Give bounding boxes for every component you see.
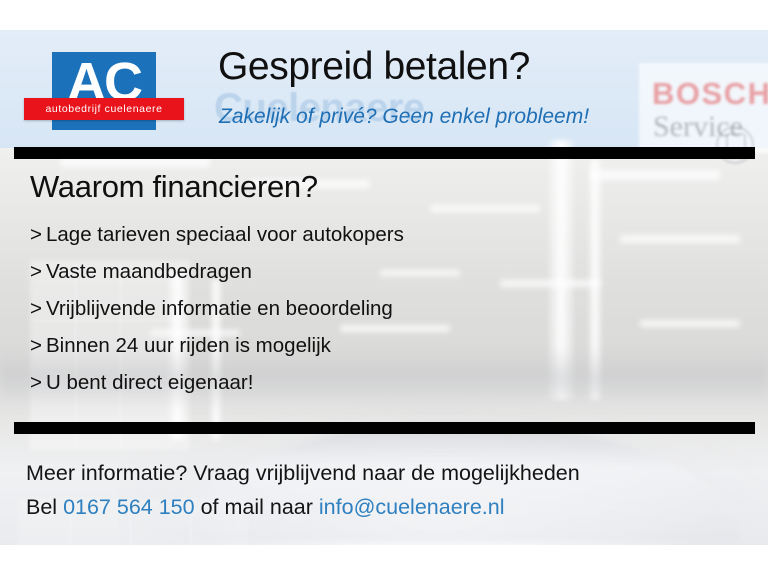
email-address-link[interactable]: info@cuelenaere.nl <box>319 495 505 519</box>
footer-contact-line: Bel 0167 564 150 of mail naar info@cuele… <box>26 492 746 526</box>
ceiling-light-panel <box>590 170 720 180</box>
divider-bar-bottom <box>14 422 755 434</box>
bullet-marker-icon: > <box>30 333 46 359</box>
list-item: >Vrijblijvende informatie en beoordeling <box>30 296 730 333</box>
banner-subtitle: Zakelijk of privé? Geen enkel probleem! <box>219 105 589 129</box>
list-item: >U bent direct eigenaar! <box>30 370 730 407</box>
list-item-label: Binnen 24 uur rijden is mogelijk <box>46 334 331 357</box>
list-item-label: Lage tarieven speciaal voor autokopers <box>46 223 404 246</box>
phone-number-link[interactable]: 0167 564 150 <box>63 495 195 519</box>
footer-call-label: Bel <box>26 495 57 519</box>
list-item: >Vaste maandbedragen <box>30 259 730 296</box>
ceiling-light-panel <box>430 205 540 212</box>
list-item-label: Vrijblijvende informatie en beoordeling <box>46 297 393 320</box>
list-item-label: U bent direct eigenaar! <box>46 371 253 394</box>
divider-bar-top <box>14 147 755 159</box>
bosch-wordmark: BOSCH <box>652 76 768 112</box>
finance-promo-banner: BOSCH Service Cuelenaere AC autobedrijf … <box>0 0 768 576</box>
contact-footer: Meer informatie? Vraag vrijblijvend naar… <box>26 458 746 526</box>
list-item: >Binnen 24 uur rijden is mogelijk <box>30 333 730 370</box>
logo-tagline: autobedrijf cuelenaere <box>24 98 184 120</box>
bullet-marker-icon: > <box>30 259 46 285</box>
bullet-marker-icon: > <box>30 370 46 396</box>
ceiling-light-panel <box>60 158 210 167</box>
banner-title: Gespreid betalen? <box>218 45 530 89</box>
list-item: >Lage tarieven speciaal voor autokopers <box>30 222 730 259</box>
section-title: Waarom financieren? <box>30 169 318 205</box>
bullet-marker-icon: > <box>30 296 46 322</box>
footer-mail-label: of mail naar <box>201 495 313 519</box>
bullet-marker-icon: > <box>30 222 46 248</box>
list-item-label: Vaste maandbedragen <box>46 260 252 283</box>
footer-info-line: Meer informatie? Vraag vrijblijvend naar… <box>26 458 746 492</box>
benefits-list: >Lage tarieven speciaal voor autokopers … <box>30 222 730 407</box>
